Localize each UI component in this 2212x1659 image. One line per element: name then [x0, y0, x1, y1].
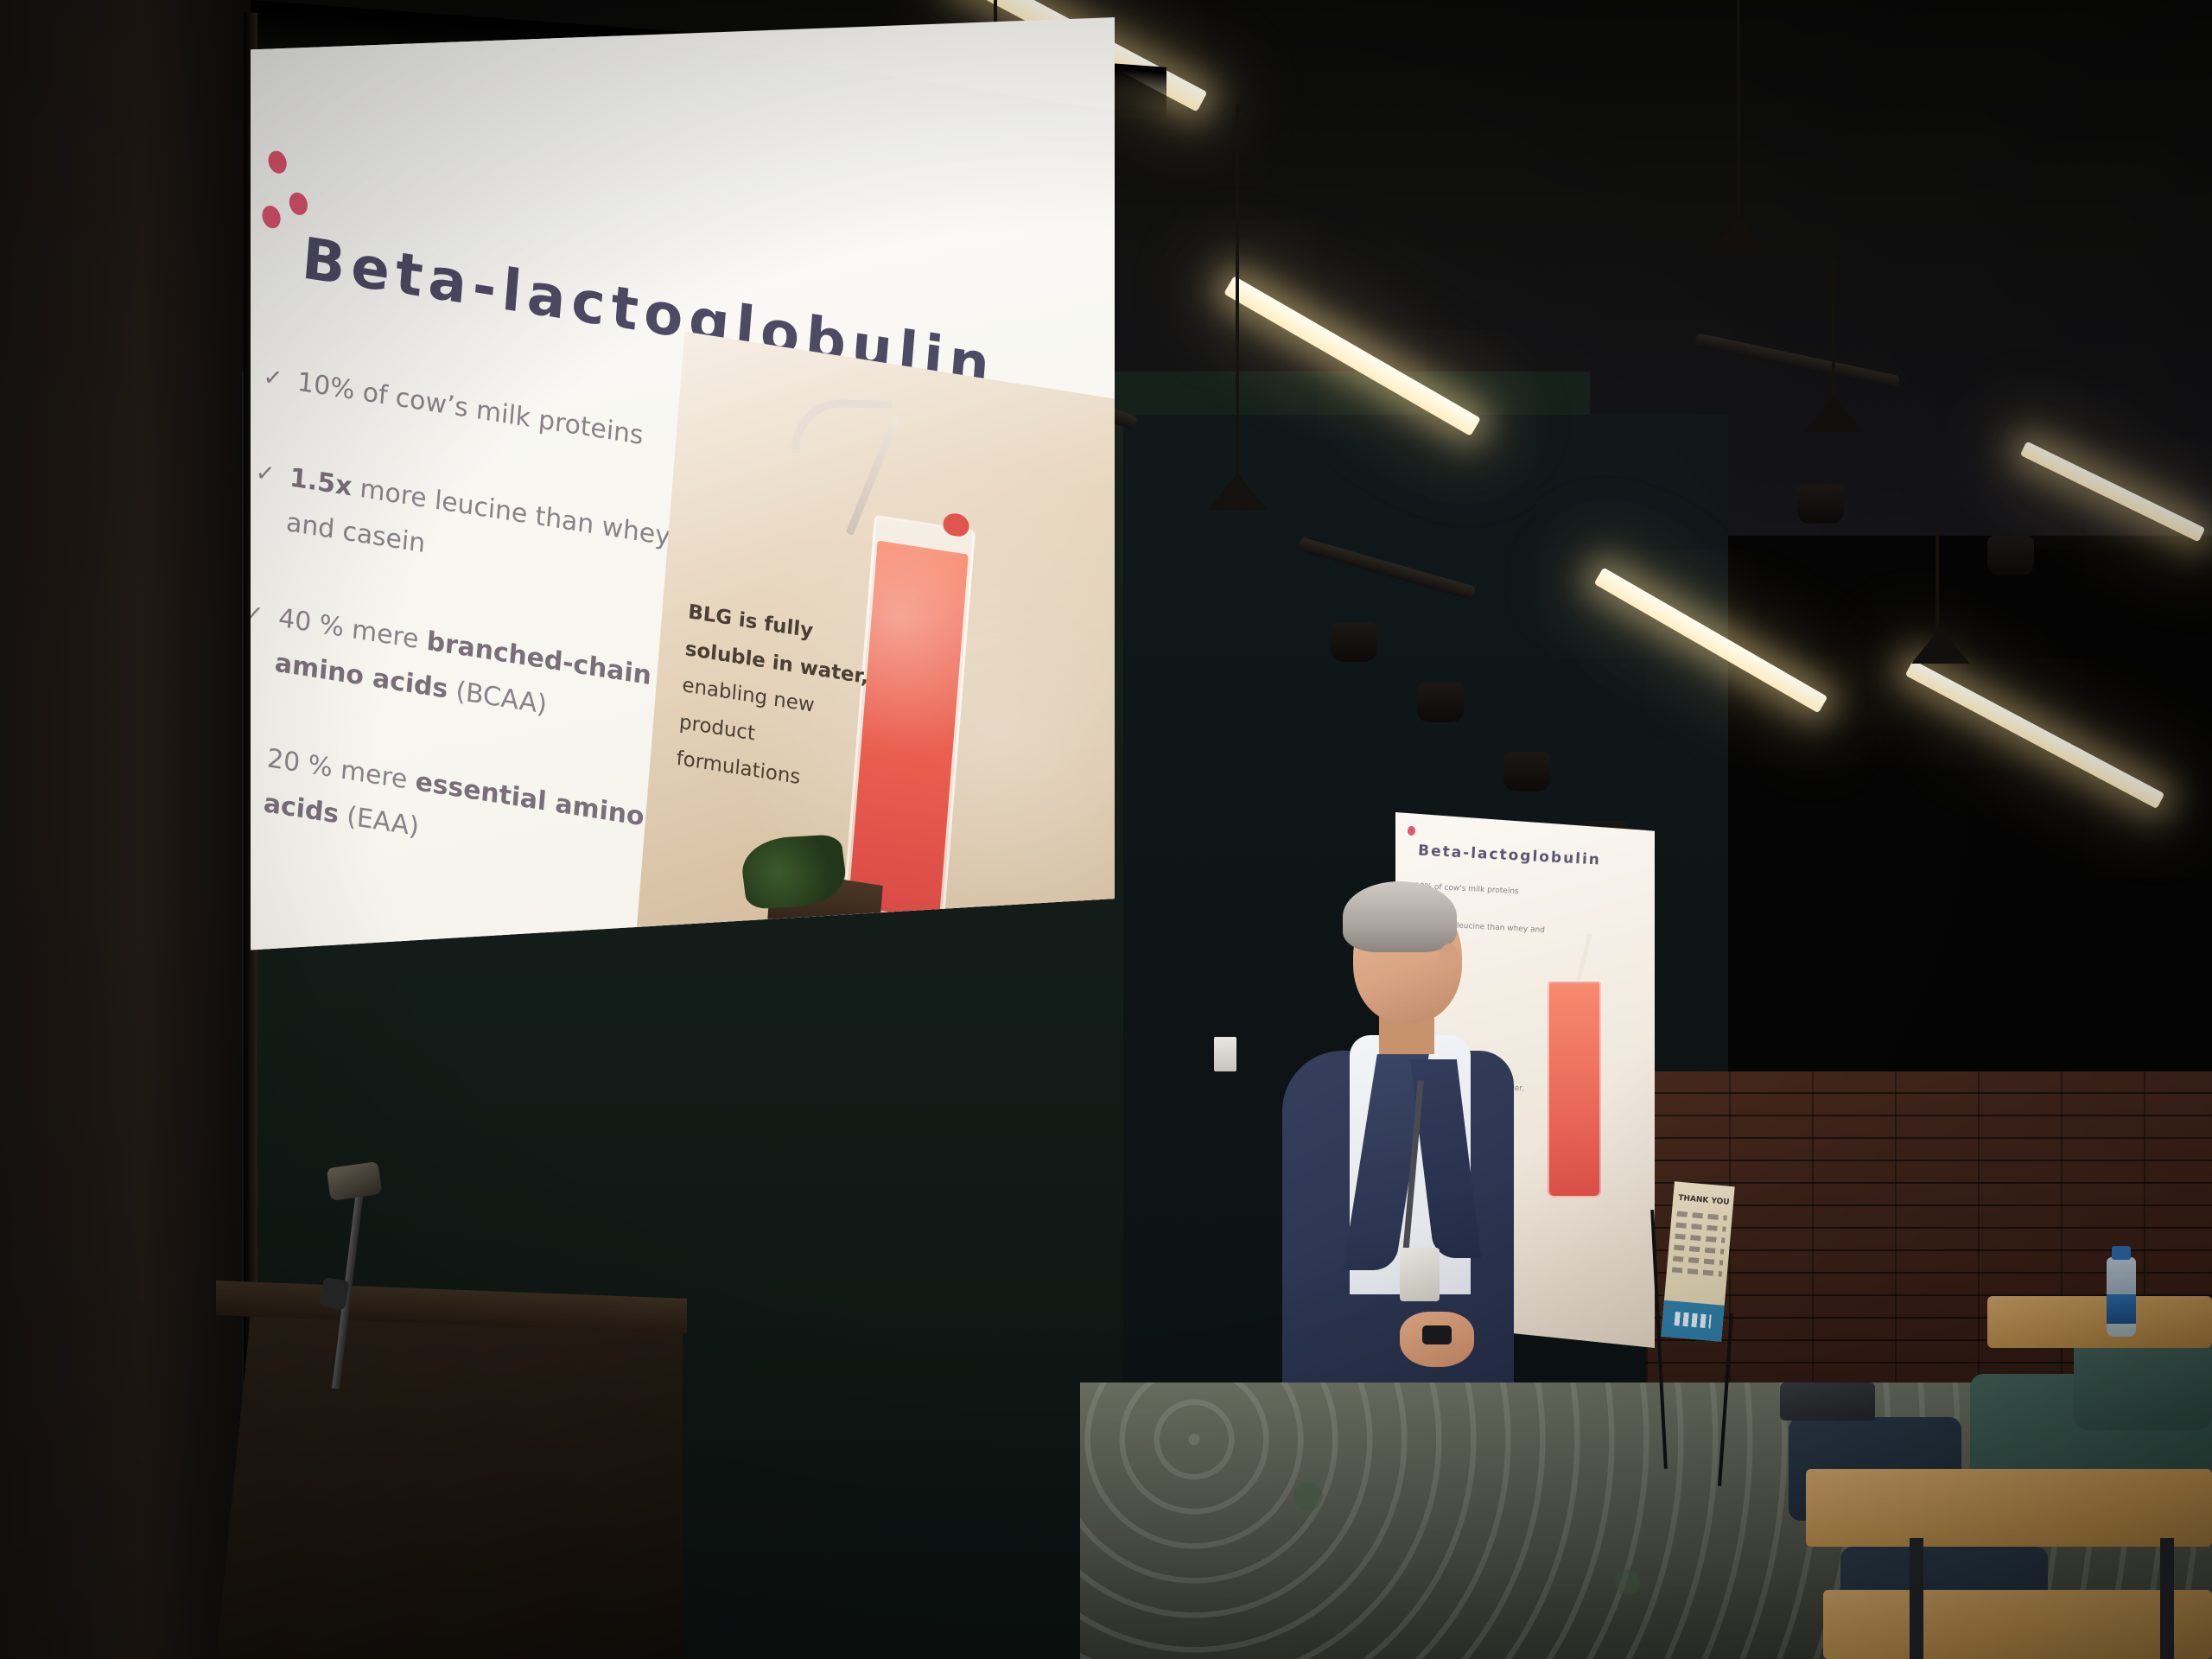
bullet-text-bold: 1.5x [289, 462, 353, 502]
bullet-text: (BCAA) [447, 675, 549, 721]
water-bottle-label [2107, 1294, 2136, 1324]
ceiling-spotlight [1987, 536, 2034, 575]
secondary-slide-title: Beta-lactoglobulin [1418, 842, 1602, 868]
wood-table [1806, 1469, 2212, 1547]
sign-title: THANK YOU [1678, 1194, 1730, 1207]
pendant-lamp [1911, 627, 1970, 664]
presenter-ear [1440, 944, 1459, 969]
left-wall [0, 0, 259, 1659]
pendant-rod [1935, 518, 1939, 631]
bullet-text: 40 % mere [277, 602, 428, 656]
straw-curve [789, 399, 895, 454]
pendant-rod [1737, 0, 1740, 216]
pendant-lamp [1208, 474, 1267, 510]
photo-caption-rest: enabling new product formulations [676, 674, 816, 789]
projection-screen: Beta-lactoglobulin ✓ 10% of cow’s milk p… [251, 17, 1158, 1503]
presenter-hair [1343, 881, 1457, 952]
sign-logo-icon [1674, 1312, 1711, 1329]
drinking-glass [1548, 982, 1601, 1198]
sign-rows [1671, 1211, 1727, 1283]
wall-plate [1214, 1037, 1236, 1071]
strawberry-drink-photo: BLG is fully soluble in water, enabling … [636, 332, 1164, 1010]
pendant-rod [1236, 104, 1239, 475]
ceiling-light-bar [1905, 660, 2165, 810]
conference-room-scene: Beta-lactoglobulin ✓ 10% of cow’s milk p… [0, 0, 2212, 1659]
table-leg [1910, 1538, 1923, 1659]
bullet-text: 10% of cow’s milk proteins [296, 367, 645, 452]
pendant-rod [1832, 259, 1835, 397]
list-item: ✓ 1.5x more leucine than whey and casein [246, 449, 699, 609]
pendant-lamp [1804, 396, 1863, 432]
water-bottle-cap [2112, 1246, 2131, 1260]
list-item: ✓ 40 % mere branched-chain amino acids (… [235, 589, 688, 749]
list-item: ✓ 20 % mere essential amino acids (EAA) [224, 730, 677, 890]
three-dot-logo-icon [262, 149, 328, 237]
name-badge [1400, 1248, 1440, 1301]
three-dot-logo-icon [1408, 826, 1415, 836]
bullet-text: 20 % mere [266, 743, 416, 797]
ceiling-spotlight [1797, 484, 1844, 524]
bullet-text: (EAA) [338, 800, 421, 842]
check-icon: ✓ [254, 452, 276, 496]
slide-bullet-list: ✓ 10% of cow’s milk proteins ✓ 1.5x more… [220, 354, 707, 940]
wood-table [1987, 1296, 2212, 1348]
lectern [216, 1287, 683, 1659]
check-icon: ✓ [262, 356, 284, 400]
green-sofa [2074, 1335, 2212, 1430]
photo-caption: BLG is fully soluble in water, enabling … [675, 594, 895, 809]
table-leg [2160, 1538, 2174, 1659]
presentation-slide: Beta-lactoglobulin ✓ 10% of cow’s milk p… [150, 0, 1186, 1087]
presentation-clicker [1422, 1325, 1452, 1344]
pendant-lamp [1709, 216, 1768, 252]
ceiling-spotlight [1331, 622, 1377, 662]
ceiling-spotlight [1503, 752, 1550, 791]
microphone-joint [319, 1277, 349, 1311]
ceiling-spotlight [1417, 683, 1464, 722]
list-item: ✓ 10% of cow’s milk proteins [258, 354, 707, 469]
wood-table [1823, 1590, 2212, 1659]
photo-caption-bold: BLG is fully soluble in water, [684, 601, 869, 689]
side-table [1780, 1382, 1875, 1421]
sign-footer [1661, 1300, 1724, 1342]
